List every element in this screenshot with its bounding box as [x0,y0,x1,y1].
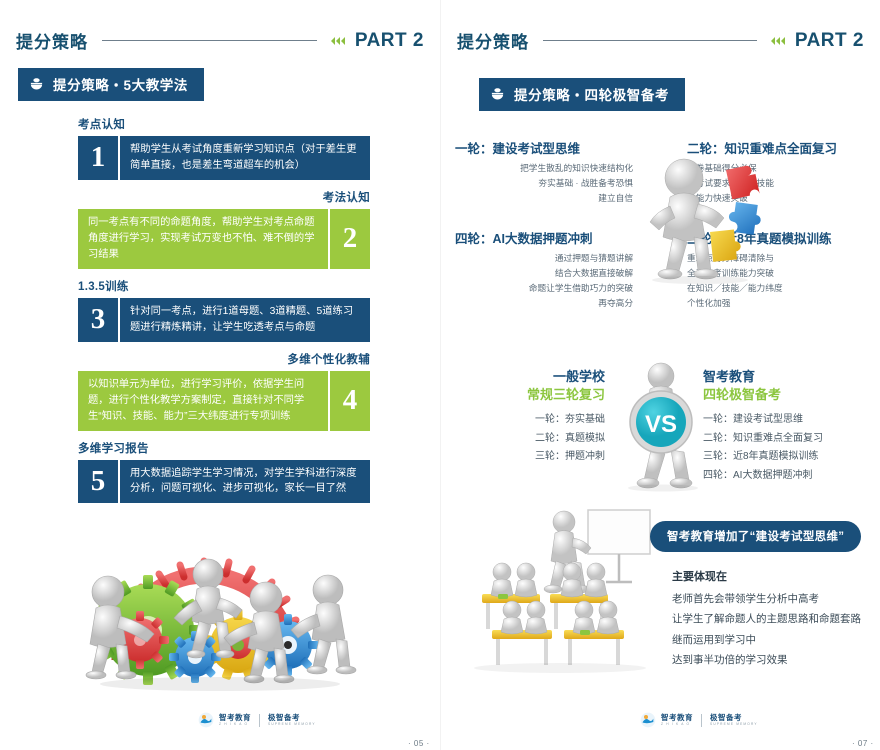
left-section-badge: 提分策略・5大教学法 [18,68,204,101]
round-one-line-2: 夯实基础 · 战胜备考恐惧 [455,176,633,191]
logo-divider [259,714,260,727]
callout-pill: 智考教育增加了“建设考试型思维” [650,521,861,552]
method-row-4: 多维个性化教辅 4 以知识单元为单位，进行学习评价，依据学生问题，进行个性化教学… [78,351,370,431]
round-four-line-1: 通过押题与猜题讲解 [455,251,633,266]
callout-body-line-3: 继而运用到学习中 [672,630,872,650]
book-emblem-icon [29,77,44,92]
vs-character-illustration: VS [615,360,707,492]
right-badge-label: 提分策略・四轮极智备考 [514,84,669,104]
method-caption-3: 1.3.5训练 [78,278,370,294]
right-runhead-rule [543,40,757,41]
classroom-illustration-svg [468,490,678,675]
right-footer: 智考教育 Z H I K A O 极智备考 SUPREME MEMORY [440,708,880,728]
puzzle-person-icon [650,159,724,279]
round-card-four: 四轮：AI大数据押题冲刺 通过押题与猜题讲解 结合大数据直接破解 命题让学生借助… [455,228,633,311]
left-footer-logo: 智考教育 Z H I K A O 极智备考 SUPREME MEMORY [198,712,316,728]
right-logo-primary: 智考教育 Z H I K A O [661,714,693,726]
left-arrows-icon [331,37,345,45]
left-runhead-rule [102,40,317,41]
callout-body: 主要体现在 老师首先会带领学生分析中高考 让学生了解命题人的主题思路和命题套路 … [672,568,872,671]
left-logo-primary: 智考教育 Z H I K A O [219,714,251,726]
right-runhead-part: PART 2 [795,30,864,52]
left-running-header: 提分策略 PART 2 [16,28,424,53]
method-number-2: 2 [328,209,370,269]
round-four-line-2: 结合大数据直接破解 [455,266,633,281]
round-four-line-4: 再夺高分 [455,296,633,311]
right-logo-secondary: 极智备考 SUPREME MEMORY [710,714,758,726]
left-page: 提分策略 PART 2 提分策略・5大教学法 考点认知 1 帮助学生从考试角度重… [0,0,440,750]
method-text-3: 针对同一考点，进行1道母题、3道精题、5道练习题进行精炼精讲，让学生吃透考点与命… [120,298,370,342]
comparison-left-item-3: 三轮：押题冲刺 [455,448,605,467]
method-row-3: 1.3.5训练 3 针对同一考点，进行1道母题、3道精题、5道练习题进行精炼精讲… [78,278,370,342]
method-text-2: 同一考点有不同的命题角度，帮助学生对考点命题角度进行学习，实现考试万变也不怕、难… [78,209,328,269]
puzzle-illustration-svg [640,150,780,285]
method-number-3: 3 [78,298,120,342]
right-running-header: 提分策略 PART 2 [457,28,864,53]
left-badge-label: 提分策略・5大教学法 [53,74,188,94]
comparison-right-item-4: 四轮：AI大数据押题冲刺 [703,467,853,486]
right-page-number: · 07 · [852,739,874,748]
comparison-right-subheading: 四轮极智备考 [703,386,853,404]
right-footer-logo: 智考教育 Z H I K A O 极智备考 SUPREME MEMORY [640,712,758,728]
round-one-lines: 把学生散乱的知识快速结构化 夯实基础 · 战胜备考恐惧 建立自信 [455,161,633,206]
callout-body-line-4: 达到事半功倍的学习效果 [672,650,872,670]
puzzle-pieces-person-illustration [640,150,780,285]
round-one-title: 一轮：建设考试型思维 [455,138,633,157]
method-number-5: 5 [78,460,120,504]
round-one-line-3: 建立自信 [455,191,633,206]
left-runhead-part: PART 2 [355,30,424,52]
comparison-left-heading: 一般学校 [455,368,605,386]
comparison-left-item-1: 一轮：夯实基础 [455,411,605,430]
comparison-right-heading: 智考教育 [703,368,853,386]
right-runhead-title: 提分策略 [457,28,529,53]
puzzle-piece-red-icon [726,164,760,199]
left-footer: 智考教育 Z H I K A O 极智备考 SUPREME MEMORY [0,708,440,728]
right-arrows-icon [771,37,785,45]
round-four-line-3: 命题让学生借助巧力的突破 [455,281,633,296]
comparison-right-column: 智考教育 四轮极智备考 一轮：建设考试型思维 二轮：知识重难点全面复习 三轮：近… [703,368,853,485]
gears-and-people-illustration [60,512,380,692]
vs-label: VS [645,411,677,438]
left-logo-secondary: 极智备考 SUPREME MEMORY [268,714,316,726]
left-page-number: · 05 · [408,739,430,748]
callout-body-line-1: 老师首先会带领学生分析中高考 [672,589,872,609]
method-caption-1: 考点认知 [78,116,370,132]
book-emblem-icon [490,87,505,102]
gears-illustration-svg [60,512,380,692]
right-section-badge: 提分策略・四轮极智备考 [479,78,685,111]
method-text-1: 帮助学生从考试角度重新学习知识点（对于差生更简单直接，也是差生弯道超车的机会） [120,136,370,180]
round-four-lines: 通过押题与猜题讲解 结合大数据直接破解 命题让学生借助巧力的突破 再夺高分 [455,251,633,311]
comparison-right-item-2: 二轮：知识重难点全面复习 [703,430,853,449]
logo-divider [701,714,702,727]
round-four-title: 四轮：AI大数据押题冲刺 [455,228,633,247]
teaching-method-list: 考点认知 1 帮助学生从考试角度重新学习知识点（对于差生更简单直接，也是差生弯道… [78,116,370,512]
method-caption-2: 考法认知 [78,189,370,205]
method-box-4: 4 以知识单元为单位，进行学习评价，依据学生问题，进行个性化教学方案制定，直接针… [78,371,370,431]
method-text-5: 用大数据追踪学生学习情况，对学生学科进行深度分析，问题可视化、进步可视化，家长一… [120,460,370,504]
method-text-4: 以知识单元为单位，进行学习评价，依据学生问题，进行个性化教学方案制定，直接针对不… [78,371,328,431]
classroom-teaching-illustration [468,490,678,675]
method-caption-5: 多维学习报告 [78,440,370,456]
callout-body-heading: 主要体现在 [672,568,872,584]
round-card-one: 一轮：建设考试型思维 把学生散乱的知识快速结构化 夯实基础 · 战胜备考恐惧 建… [455,138,633,206]
comparison-block: 一般学校 常规三轮复习 一轮：夯实基础 二轮：真题模拟 三轮：押题冲刺 [455,368,865,498]
method-number-1: 1 [78,136,120,180]
comparison-left-column: 一般学校 常规三轮复习 一轮：夯实基础 二轮：真题模拟 三轮：押题冲刺 [455,368,605,467]
method-row-1: 考点认知 1 帮助学生从考试角度重新学习知识点（对于差生更简单直接，也是差生弯道… [78,116,370,180]
left-runhead-title: 提分策略 [16,28,88,53]
vs-illustration-svg: VS [615,360,707,492]
method-row-2: 考法认知 2 同一考点有不同的命题角度，帮助学生对考点命题角度进行学习，实现考试… [78,189,370,269]
method-row-5: 多维学习报告 5 用大数据追踪学生学习情况，对学生学科进行深度分析，问题可视化、… [78,440,370,504]
comparison-left-item-2: 二轮：真题模拟 [455,430,605,449]
method-number-4: 4 [328,371,370,431]
round-three-line-4: 个性化加强 [687,296,865,311]
brochure-spread: 提分策略 PART 2 提分策略・5大教学法 考点认知 1 帮助学生从考试角度重… [0,0,880,750]
method-box-2: 2 同一考点有不同的命题角度，帮助学生对考点命题角度进行学习，实现考试万变也不怕… [78,209,370,269]
method-box-5: 5 用大数据追踪学生学习情况，对学生学科进行深度分析，问题可视化、进步可视化，家… [78,460,370,504]
callout-title: 智考教育增加了“建设考试型思维” [667,531,844,543]
comparison-right-item-3: 三轮：近8年真题模拟训练 [703,448,853,467]
round-one-line-1: 把学生散乱的知识快速结构化 [455,161,633,176]
method-box-1: 1 帮助学生从考试角度重新学习知识点（对于差生更简单直接，也是差生弯道超车的机会… [78,136,370,180]
method-box-3: 3 针对同一考点，进行1道母题、3道精题、5道练习题进行精炼精讲，让学生吃透考点… [78,298,370,342]
comparison-left-subheading: 常规三轮复习 [455,386,605,404]
brand-logo-icon [198,712,214,728]
callout-body-line-2: 让学生了解命题人的主题思路和命题套路 [672,609,872,629]
comparison-right-item-1: 一轮：建设考试型思维 [703,411,853,430]
method-caption-4: 多维个性化教辅 [78,351,370,367]
puzzle-piece-yellow-icon [710,229,742,262]
brand-logo-icon [640,712,656,728]
